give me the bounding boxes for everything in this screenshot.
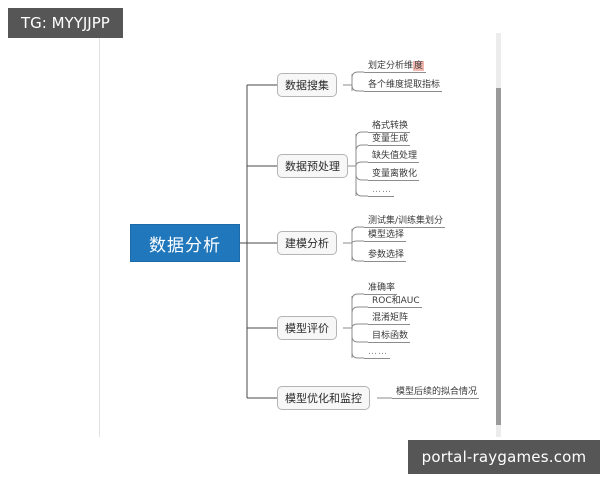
watermark-bottom-right: portal-raygames.com: [408, 440, 600, 474]
leaf-item[interactable]: 模型选择: [364, 229, 406, 242]
leaf-item[interactable]: 变量生成: [368, 133, 410, 146]
mindmap-root-node[interactable]: 数据分析: [130, 224, 240, 262]
leaf-item[interactable]: ……: [364, 346, 390, 359]
watermark-top-left: TG: MYYJJPP: [8, 8, 123, 38]
leaf-item[interactable]: 目标函数: [368, 330, 410, 343]
leaf-item[interactable]: 划定分析维度: [364, 60, 426, 73]
branch-node-data-collection[interactable]: 数据搜集: [277, 73, 337, 97]
page-margin-guide: [99, 33, 100, 437]
leaf-item[interactable]: 变量离散化: [368, 168, 419, 181]
branch-node-model-evaluation[interactable]: 模型评价: [277, 316, 337, 340]
leaf-item[interactable]: 各个维度提取指标: [364, 79, 442, 92]
leaf-item[interactable]: 参数选择: [364, 249, 406, 262]
leaf-item[interactable]: 格式转换: [368, 120, 410, 133]
branch-node-model-optimization-monitoring[interactable]: 模型优化和监控: [277, 386, 370, 410]
leaf-item[interactable]: ……: [368, 184, 394, 197]
leaf-text: 划定分析维: [368, 61, 413, 71]
mindmap-canvas: 数据分析 数据搜集 划定分析维度 各个维度提取指标 数据预处理 格式转换 变量生…: [0, 0, 600, 480]
branch-node-modeling-analysis[interactable]: 建模分析: [277, 231, 337, 255]
leaf-item[interactable]: 模型后续的拟合情况: [392, 386, 479, 399]
vertical-scrollbar-thumb[interactable]: [496, 88, 501, 425]
leaf-text-highlight: 度: [413, 61, 424, 71]
leaf-item[interactable]: 缺失值处理: [368, 150, 419, 163]
leaf-item[interactable]: ROC和AUC: [368, 295, 422, 308]
leaf-item[interactable]: 混淆矩阵: [368, 312, 410, 325]
leaf-item[interactable]: 测试集/训练集划分: [364, 215, 445, 228]
leaf-item[interactable]: 准确率: [364, 282, 397, 295]
branch-node-data-preprocessing[interactable]: 数据预处理: [277, 154, 348, 178]
